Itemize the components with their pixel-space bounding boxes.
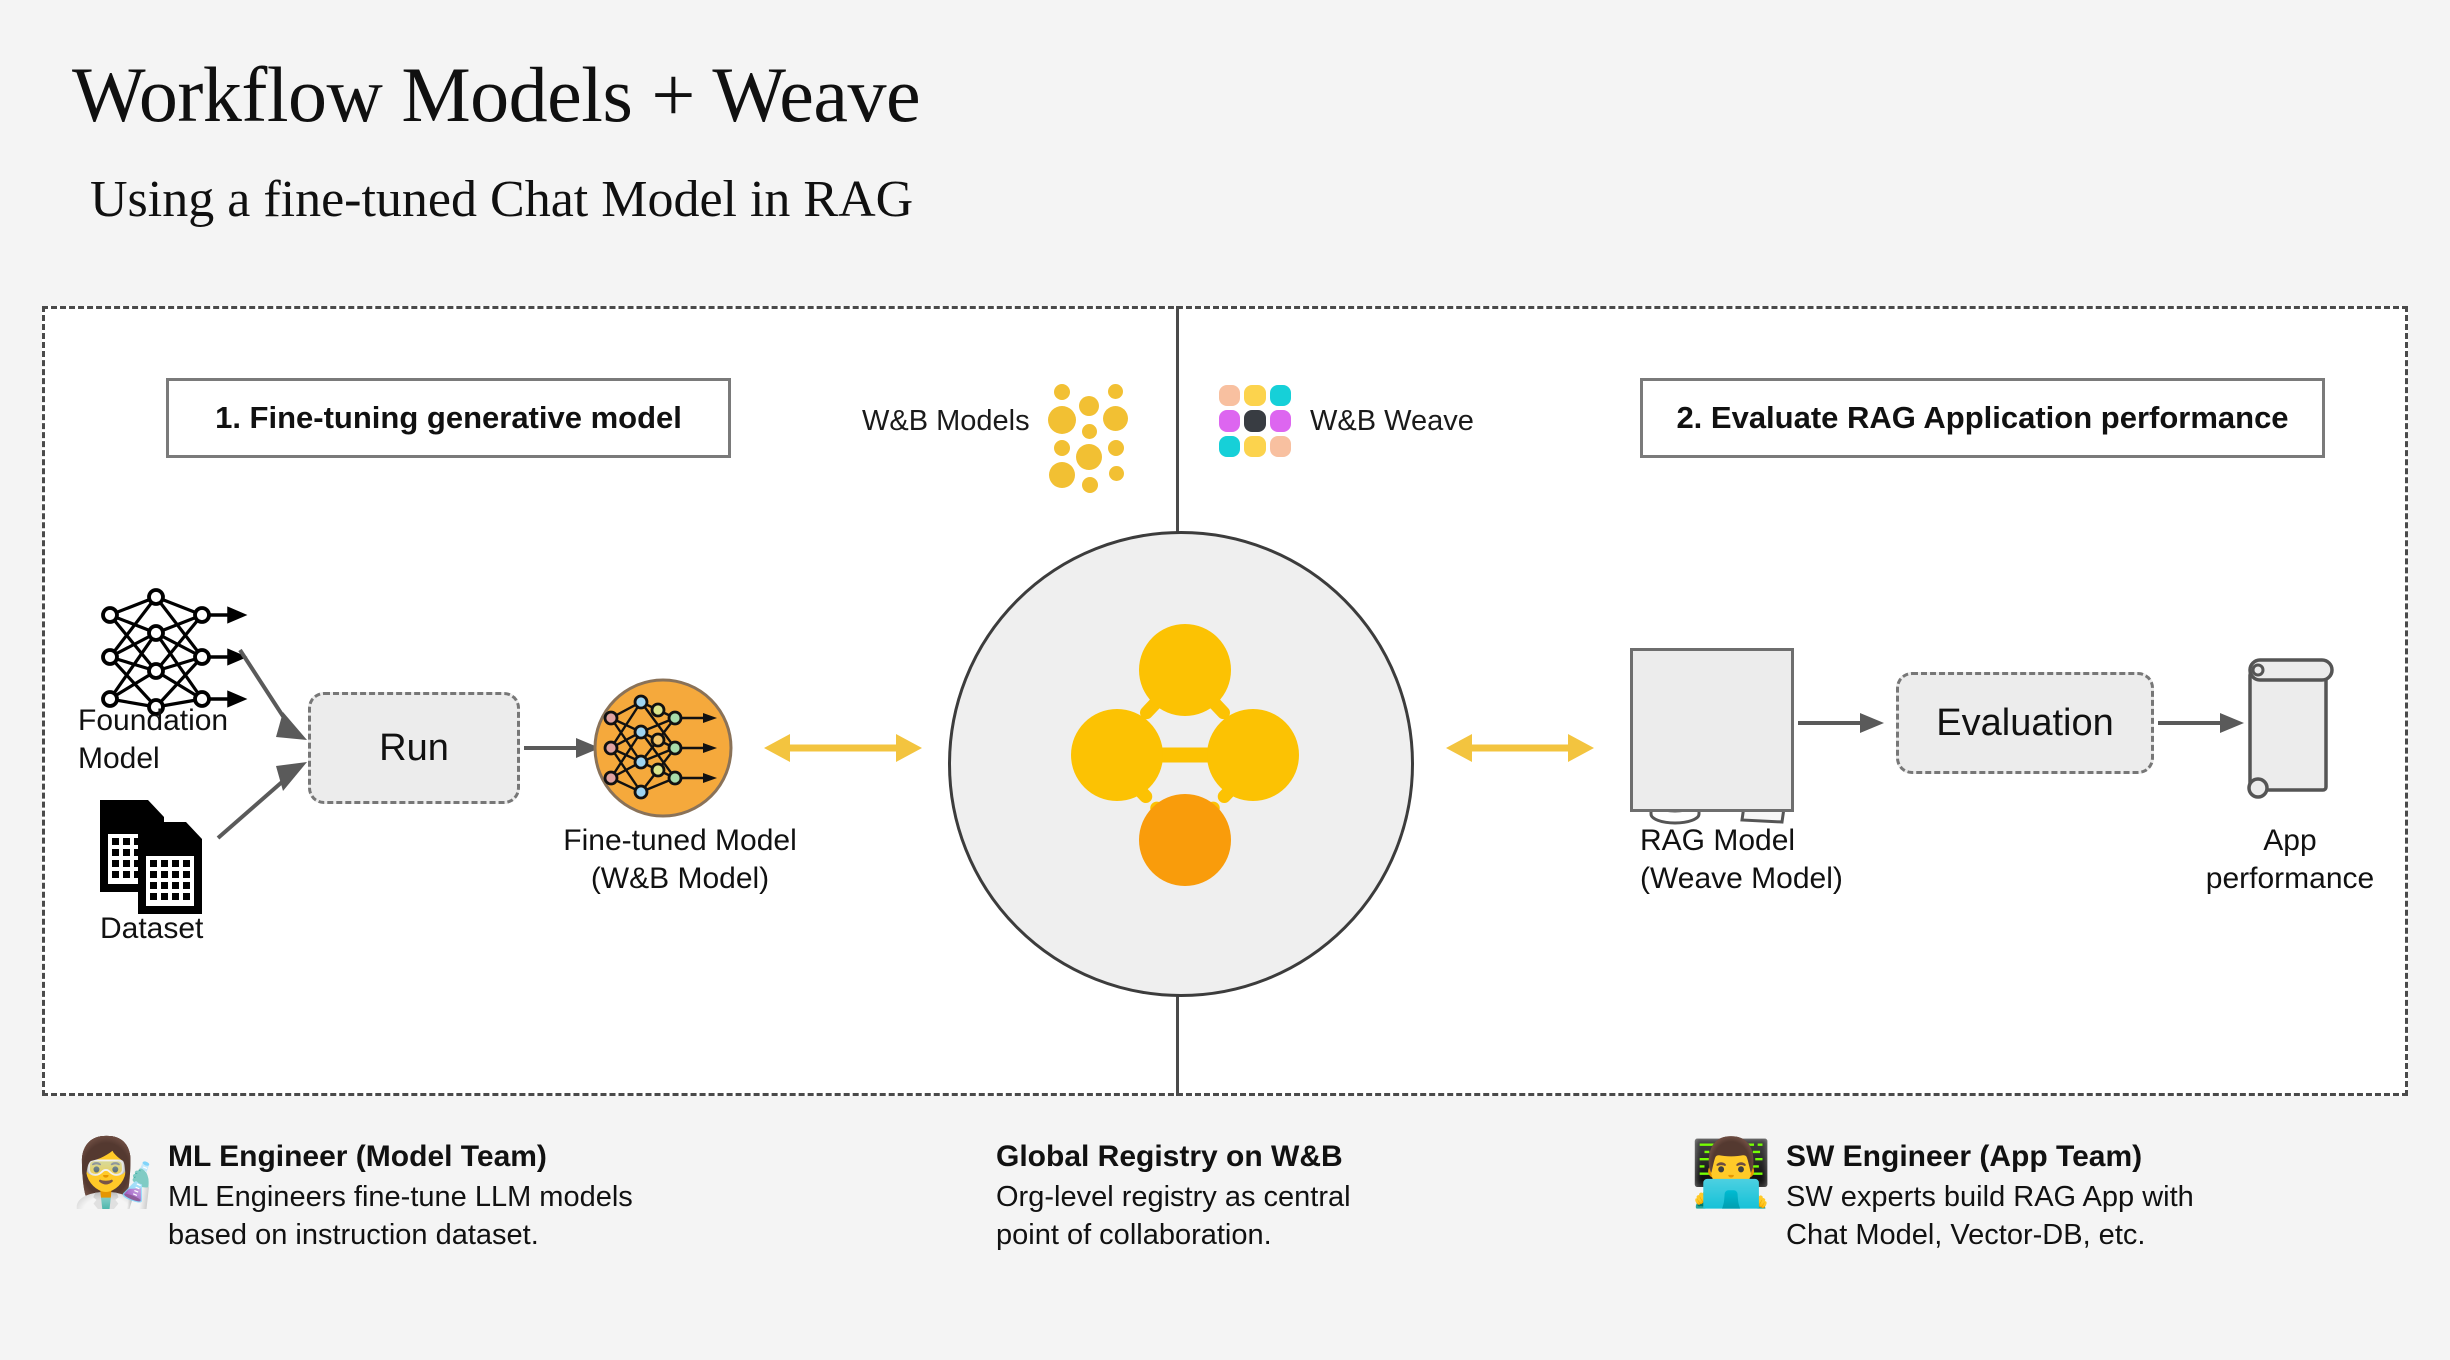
legend-ml-engineer: 👩‍🔬 ML Engineer (Model Team) ML Engineer…: [72, 1140, 633, 1255]
legend-title: Global Registry on W&B: [996, 1140, 1351, 1174]
section-header-evaluate: 2. Evaluate RAG Application performance: [1640, 378, 2325, 458]
developer-avatar-icon: 👨‍💻: [1690, 1140, 1768, 1206]
legend-global-registry: Global Registry on W&B Org-level registr…: [996, 1140, 1351, 1255]
legend-sw-engineer: 👨‍💻 SW Engineer (App Team) SW experts bu…: [1690, 1140, 2194, 1255]
legend-description: ML Engineers fine-tune LLM models based …: [168, 1178, 633, 1255]
section-header-finetuning: 1. Fine-tuning generative model: [166, 378, 731, 458]
app-performance-label: App performance: [2190, 822, 2390, 898]
scientist-avatar-icon: 👩‍🔬: [72, 1140, 150, 1206]
page-title: Workflow Models + Weave: [72, 50, 920, 140]
run-node[interactable]: Run: [308, 692, 520, 804]
wandb-weave-brand: W&B Weave: [1216, 382, 1474, 460]
wandb-models-dots-icon: [1046, 382, 1124, 460]
wandb-models-brand: W&B Models: [862, 382, 1124, 460]
page-subtitle: Using a fine-tuned Chat Model in RAG: [90, 170, 913, 229]
rag-model-node[interactable]: [1630, 648, 1794, 812]
legend-title: ML Engineer (Model Team): [168, 1140, 633, 1174]
wandb-weave-grid-icon: [1216, 382, 1294, 460]
registry-network-icon: [1040, 610, 1330, 900]
finetuned-model-label: Fine-tuned Model (W&B Model): [530, 822, 830, 898]
foundation-model-label: Foundation Model: [78, 702, 228, 778]
wandb-weave-label: W&B Weave: [1310, 405, 1474, 438]
wandb-models-label: W&B Models: [862, 405, 1030, 438]
slide-canvas: Workflow Models + Weave Using a fine-tun…: [0, 0, 2450, 1360]
evaluation-node[interactable]: Evaluation: [1896, 672, 2154, 774]
legend-description: SW experts build RAG App with Chat Model…: [1786, 1178, 2194, 1255]
legend-description: Org-level registry as central point of c…: [996, 1178, 1351, 1255]
rag-model-label: RAG Model (Weave Model): [1640, 822, 1843, 898]
dataset-label: Dataset: [100, 910, 203, 948]
legend-title: SW Engineer (App Team): [1786, 1140, 2194, 1174]
